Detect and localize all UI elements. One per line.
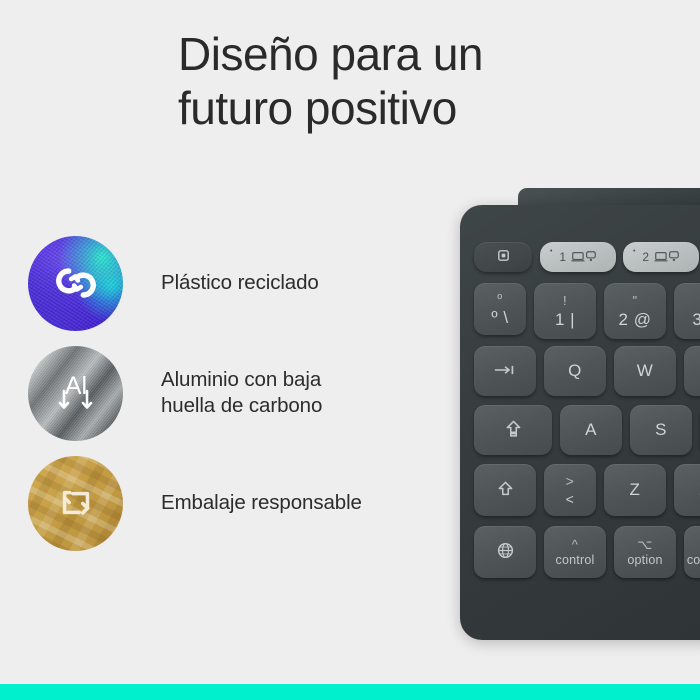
channel-dot-icon: • xyxy=(550,248,553,255)
ordinal-key-top: º xyxy=(497,292,502,305)
two-key[interactable]: " 2 @ xyxy=(604,283,666,339)
tab-key[interactable] xyxy=(474,346,536,396)
two-key-bottom: 2 @ xyxy=(619,311,652,328)
easy-switch-1-key[interactable]: • 1 xyxy=(540,242,616,272)
one-key-top: ! xyxy=(563,294,567,307)
keyboard-product-image: • 1 • 2 xyxy=(460,188,700,640)
globe-icon xyxy=(496,541,515,563)
easy-switch-2-label: 2 xyxy=(642,251,649,263)
recycled-plastic-badge xyxy=(28,236,123,331)
e-key[interactable]: E xyxy=(684,346,700,396)
device-laptop-icon xyxy=(654,249,680,266)
easy-switch-2-key[interactable]: • 2 xyxy=(623,242,699,272)
a-key[interactable]: A xyxy=(560,405,622,455)
packaging-badge xyxy=(28,456,123,551)
x-key[interactable]: X xyxy=(674,464,700,516)
option-key-label: option xyxy=(627,554,662,567)
w-key[interactable]: W xyxy=(614,346,676,396)
s-key[interactable]: S xyxy=(630,405,692,455)
feature-label-packaging: Embalaje responsable xyxy=(161,490,362,516)
ordinal-key-bottom: º \ xyxy=(491,309,508,326)
page-title-line-2: futuro positivo xyxy=(178,82,598,136)
control-key[interactable]: ^ control xyxy=(544,526,606,578)
three-key[interactable]: · 3 # xyxy=(674,283,700,339)
two-key-top: " xyxy=(632,294,637,307)
command-key[interactable]: ⌘ command xyxy=(684,526,700,578)
keyboard-keys: • 1 • 2 xyxy=(460,205,700,640)
shift-arrow-icon xyxy=(497,480,514,500)
recycling-loop-icon xyxy=(51,258,101,308)
option-alt-icon: ⌥ xyxy=(637,538,652,551)
aluminium-badge: Al xyxy=(28,346,123,441)
esc-square-icon xyxy=(496,248,511,266)
control-key-label: control xyxy=(556,554,595,567)
tab-arrow-icon xyxy=(493,364,517,379)
globe-fn-key[interactable] xyxy=(474,526,536,578)
feature-item-packaging: Embalaje responsable xyxy=(28,448,448,558)
packaging-recycle-square-icon xyxy=(51,478,101,528)
q-key[interactable]: Q xyxy=(544,346,606,396)
easy-switch-1-label: 1 xyxy=(559,251,566,263)
svg-text:Al: Al xyxy=(64,372,86,400)
feature-item-aluminium: Al Aluminio con baja huella de carbono xyxy=(28,338,448,448)
option-key[interactable]: ⌥ option xyxy=(614,526,676,578)
esc-key[interactable] xyxy=(474,242,532,272)
angle-bracket-bottom: < xyxy=(566,492,575,506)
caps-lock-icon xyxy=(505,419,522,441)
feature-label-aluminium-line-1: Aluminio con baja xyxy=(161,368,321,391)
command-key-label: command xyxy=(687,554,700,567)
control-caret-icon: ^ xyxy=(572,538,579,551)
accent-bar xyxy=(0,684,700,700)
shift-key[interactable] xyxy=(474,464,536,516)
z-key[interactable]: Z xyxy=(604,464,666,516)
angle-bracket-key[interactable]: > < xyxy=(544,464,596,516)
one-key-bottom: 1 | xyxy=(555,311,575,328)
feature-label-recycled-plastic: Plástico reciclado xyxy=(161,270,319,296)
aluminium-al-arrows-icon: Al xyxy=(49,367,103,419)
angle-bracket-top: > xyxy=(566,474,575,488)
one-key[interactable]: ! 1 | xyxy=(534,283,596,339)
ordinal-key[interactable]: º º \ xyxy=(474,283,526,335)
device-laptop-icon xyxy=(571,249,597,266)
feature-label-aluminium: Aluminio con baja huella de carbono xyxy=(161,367,322,419)
feature-list: Plástico reciclado Al Aluminio con baja … xyxy=(28,228,448,558)
three-key-bottom: 3 # xyxy=(692,311,700,328)
channel-dot-icon: • xyxy=(633,248,636,255)
page-title-line-1: Diseño para un xyxy=(178,28,483,80)
feature-label-aluminium-line-2: huella de carbono xyxy=(161,394,322,417)
caps-lock-key[interactable] xyxy=(474,405,552,455)
feature-item-recycled-plastic: Plástico reciclado xyxy=(28,228,448,338)
page-title: Diseño para un futuro positivo xyxy=(178,28,598,136)
